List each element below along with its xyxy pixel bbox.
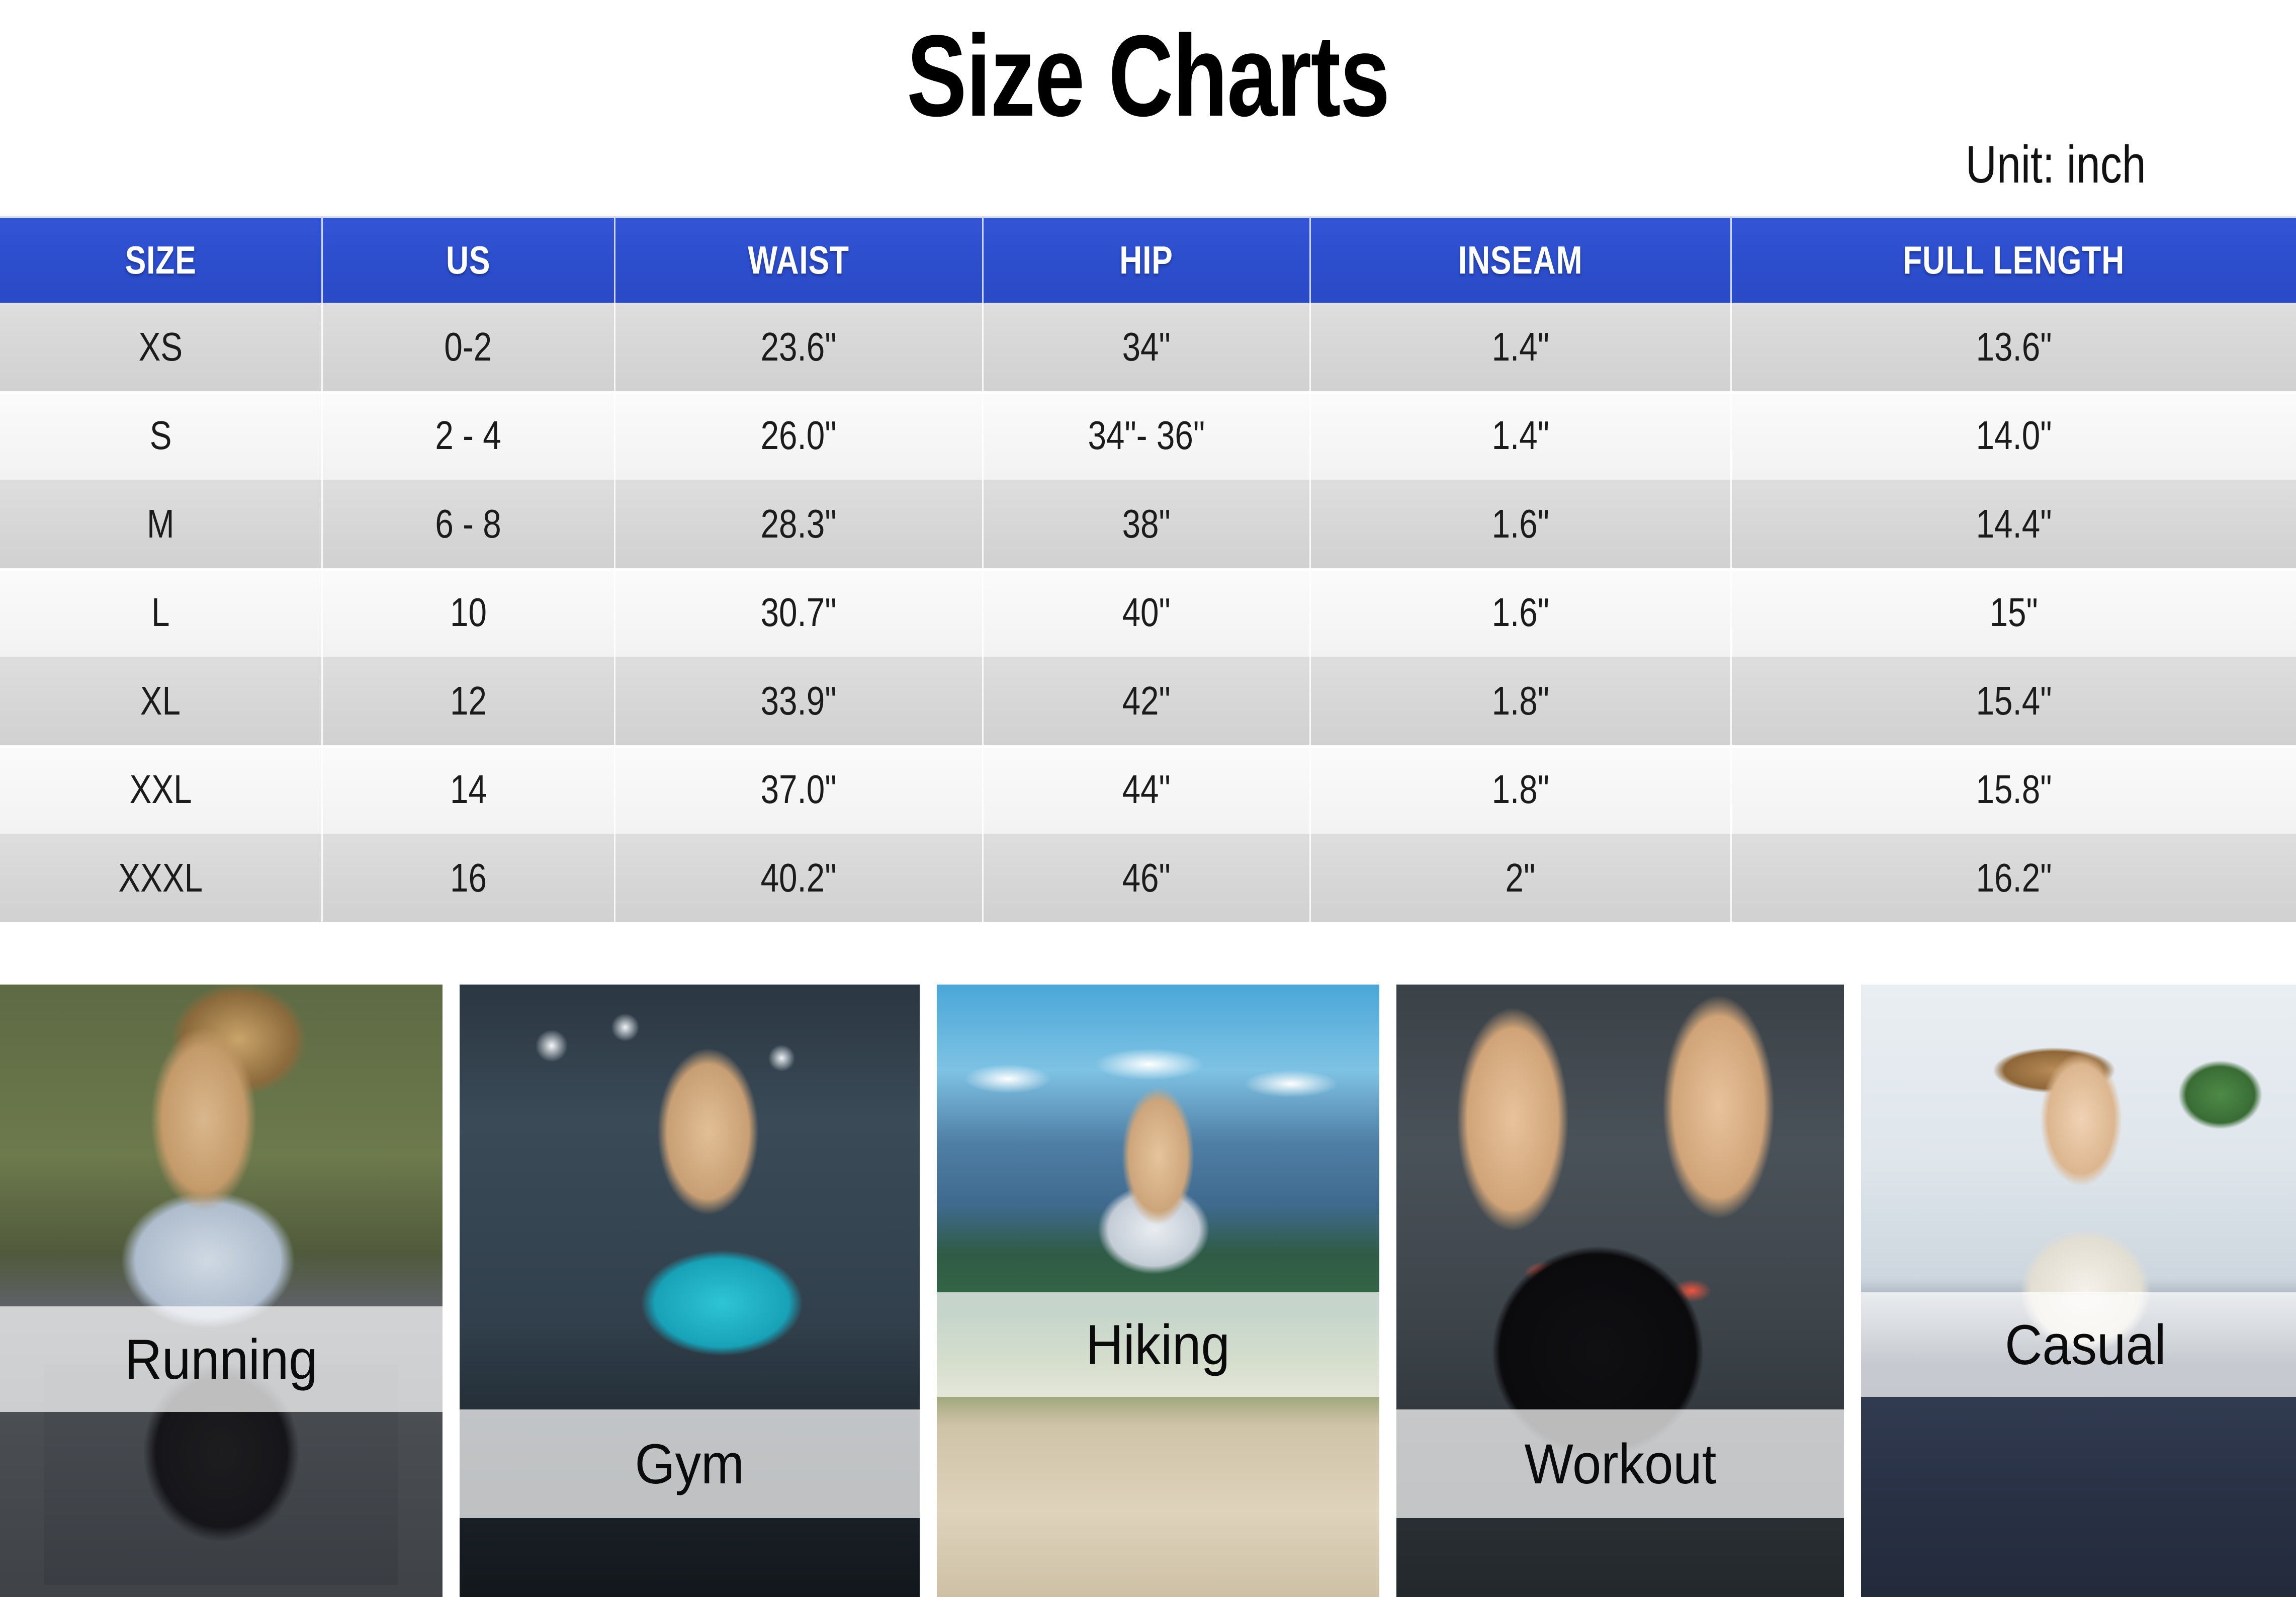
column-header-inseam-label: INSEAM: [1458, 237, 1582, 283]
cell-waist: 40.2": [614, 834, 983, 922]
cell-waist: 23.6": [614, 303, 983, 391]
cell-waist: 28.3": [614, 480, 983, 568]
cell-us-value: 2 - 4: [435, 412, 501, 459]
column-header-waist-label: WAIST: [748, 237, 849, 283]
size-chart-page: Size Charts Unit: inch SIZE US WAIST HIP…: [0, 0, 2296, 1597]
cell-inseam: 1.4": [1310, 303, 1731, 391]
gallery-item-hiking: Hiking: [937, 985, 1379, 1597]
gallery-label-casual-band: Casual: [1861, 1292, 2296, 1397]
cell-inseam: 1.6": [1310, 480, 1731, 568]
table-row: XXL 14 37.0" 44" 1.8" 15.8": [0, 745, 2296, 834]
cell-waist: 33.9": [614, 657, 983, 745]
road-runner-photo: [0, 985, 443, 1597]
column-header-full-length-label: FULL LENGTH: [1903, 237, 2125, 283]
cell-size-value: XL: [140, 678, 181, 724]
table-row: XL 12 33.9" 42" 1.8" 15.4": [0, 657, 2296, 745]
cell-hip-value: 34": [1122, 324, 1171, 370]
cell-hip-value: 42": [1122, 678, 1171, 724]
gallery-item-gym: Gym: [460, 985, 920, 1597]
cell-hip-value: 40": [1122, 589, 1171, 636]
column-header-us: US: [322, 217, 614, 303]
gallery-label-gym: Gym: [635, 1432, 745, 1496]
cell-size-value: XXXL: [118, 855, 203, 901]
cell-waist-value: 28.3": [761, 501, 837, 547]
cell-waist-value: 26.0": [761, 412, 837, 459]
gallery-label-hiking: Hiking: [1086, 1312, 1230, 1377]
gallery-label-hiking-band: Hiking: [937, 1292, 1379, 1397]
cell-inseam-value: 1.8": [1492, 766, 1549, 813]
column-header-us-label: US: [446, 237, 490, 283]
cell-size: XXL: [0, 745, 322, 834]
column-header-size-label: SIZE: [125, 237, 196, 283]
cell-hip-value: 38": [1122, 501, 1171, 547]
cell-full-length-value: 13.6": [1976, 324, 2052, 370]
cell-us-value: 10: [450, 589, 487, 636]
cell-size-value: M: [147, 501, 174, 547]
cell-full-length-value: 16.2": [1976, 855, 2052, 901]
cell-inseam-value: 1.4": [1492, 324, 1549, 370]
title-block: Size Charts Unit: inch: [0, 0, 2296, 216]
gallery-label-running-band: Running: [0, 1306, 443, 1412]
gallery-label-casual: Casual: [2005, 1312, 2166, 1377]
cell-hip: 40": [983, 568, 1310, 657]
gallery-label-gym-band: Gym: [460, 1409, 920, 1518]
cell-size-value: XS: [139, 324, 183, 370]
cell-size: S: [0, 391, 322, 480]
gallery-label-running: Running: [125, 1327, 318, 1392]
mountain-trail-photo: [937, 985, 1379, 1597]
activity-gallery: Running Gym Hiking Workout Casual: [0, 985, 2296, 1597]
cell-us-value: 12: [450, 678, 487, 724]
cell-inseam-value: 1.6": [1492, 589, 1549, 636]
cell-size-value: XXL: [129, 766, 192, 813]
table-row: S 2 - 4 26.0" 34"- 36" 1.4" 14.0": [0, 391, 2296, 480]
cell-inseam: 1.6": [1310, 568, 1731, 657]
cell-inseam-value: 1.6": [1492, 501, 1549, 547]
cell-full-length: 14.4": [1731, 480, 2296, 568]
gallery-item-workout: Workout: [1396, 985, 1844, 1597]
cell-us: 12: [322, 657, 614, 745]
cell-inseam-value: 1.8": [1492, 678, 1549, 724]
cell-waist: 26.0": [614, 391, 983, 480]
cell-us-value: 6 - 8: [435, 501, 501, 547]
column-header-hip: HIP: [983, 217, 1310, 303]
cell-us: 2 - 4: [322, 391, 614, 480]
cell-us: 10: [322, 568, 614, 657]
table-body: XS 0-2 23.6" 34" 1.4" 13.6" S 2 - 4 26.0…: [0, 303, 2296, 922]
cell-waist-value: 30.7": [761, 589, 837, 636]
cell-us-value: 16: [450, 855, 487, 901]
cell-full-length: 16.2": [1731, 834, 2296, 922]
cell-us-value: 14: [450, 766, 487, 813]
cell-waist-value: 37.0": [761, 766, 837, 813]
sofa-sitting-photo: [1861, 985, 2296, 1597]
table-row: XS 0-2 23.6" 34" 1.4" 13.6": [0, 303, 2296, 391]
cell-waist-value: 40.2": [761, 855, 837, 901]
column-header-waist: WAIST: [614, 217, 983, 303]
column-header-full-length: FULL LENGTH: [1731, 217, 2296, 303]
cell-full-length: 14.0": [1731, 391, 2296, 480]
cell-size: XL: [0, 657, 322, 745]
cell-size: XS: [0, 303, 322, 391]
cell-full-length: 15.8": [1731, 745, 2296, 834]
table-row: M 6 - 8 28.3" 38" 1.6" 14.4": [0, 480, 2296, 568]
cell-hip: 42": [983, 657, 1310, 745]
cell-full-length: 13.6": [1731, 303, 2296, 391]
cell-inseam-value: 1.4": [1492, 412, 1549, 459]
cell-hip-value: 34"- 36": [1088, 412, 1205, 459]
cell-size-value: S: [149, 412, 171, 459]
gallery-item-casual: Casual: [1861, 985, 2296, 1597]
cell-full-length-value: 15.4": [1976, 678, 2052, 724]
cell-size: L: [0, 568, 322, 657]
cell-waist: 37.0": [614, 745, 983, 834]
cell-waist: 30.7": [614, 568, 983, 657]
cell-us: 6 - 8: [322, 480, 614, 568]
cell-full-length: 15.4": [1731, 657, 2296, 745]
cell-inseam: 1.8": [1310, 657, 1731, 745]
size-chart-table: SIZE US WAIST HIP INSEAM FULL LENGTH XS …: [0, 216, 2296, 922]
table-header: SIZE US WAIST HIP INSEAM FULL LENGTH: [0, 217, 2296, 303]
column-header-hip-label: HIP: [1120, 237, 1173, 283]
cell-full-length-value: 14.4": [1976, 501, 2052, 547]
page-title: Size Charts: [252, 15, 2043, 137]
unit-note: Unit: inch: [1966, 135, 2146, 195]
gallery-item-running: Running: [0, 985, 443, 1597]
cell-full-length-value: 15": [1990, 589, 2038, 636]
cell-inseam: 2": [1310, 834, 1731, 922]
cell-full-length-value: 14.0": [1976, 412, 2052, 459]
cell-us: 14: [322, 745, 614, 834]
column-header-size: SIZE: [0, 217, 322, 303]
table-header-row: SIZE US WAIST HIP INSEAM FULL LENGTH: [0, 217, 2296, 303]
table-row: L 10 30.7" 40" 1.6" 15": [0, 568, 2296, 657]
cell-full-length: 15": [1731, 568, 2296, 657]
cell-full-length-value: 15.8": [1976, 766, 2052, 813]
cell-inseam: 1.8": [1310, 745, 1731, 834]
cell-hip: 34": [983, 303, 1310, 391]
cell-waist-value: 23.6": [761, 324, 837, 370]
cell-size: XXXL: [0, 834, 322, 922]
cell-us-value: 0-2: [445, 324, 492, 370]
column-header-inseam: INSEAM: [1310, 217, 1731, 303]
cell-hip: 38": [983, 480, 1310, 568]
cell-hip-value: 46": [1122, 855, 1171, 901]
gallery-label-workout-band: Workout: [1396, 1409, 1844, 1518]
cell-us: 0-2: [322, 303, 614, 391]
cell-waist-value: 33.9": [761, 678, 837, 724]
cell-hip: 46": [983, 834, 1310, 922]
cell-inseam: 1.4": [1310, 391, 1731, 480]
cell-hip: 44": [983, 745, 1310, 834]
cell-hip: 34"- 36": [983, 391, 1310, 480]
cell-size-value: L: [151, 589, 169, 636]
cell-inseam-value: 2": [1506, 855, 1536, 901]
cell-us: 16: [322, 834, 614, 922]
cell-hip-value: 44": [1122, 766, 1171, 813]
cell-size: M: [0, 480, 322, 568]
gallery-label-workout: Workout: [1524, 1432, 1716, 1496]
table-row: XXXL 16 40.2" 46" 2" 16.2": [0, 834, 2296, 922]
